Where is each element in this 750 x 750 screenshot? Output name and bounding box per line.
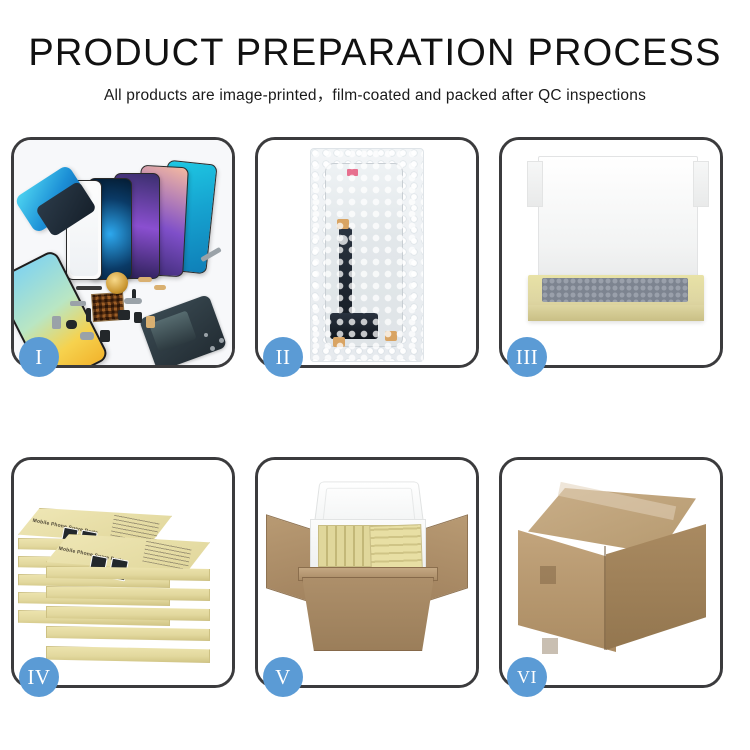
yellow-inner-box	[528, 275, 704, 321]
flex-part	[70, 301, 86, 306]
step-badge: I	[19, 337, 59, 377]
label-sticker	[347, 169, 358, 176]
flex-part	[80, 332, 94, 340]
kraft-carton	[302, 577, 434, 651]
box-stack: Mobile Phone Spare Parts Mobile Phone Sp…	[18, 482, 232, 678]
step-3-image	[502, 140, 720, 365]
connector-part	[385, 331, 397, 341]
carton-left-face	[518, 530, 616, 652]
flex-part	[146, 316, 155, 328]
flex-part	[86, 308, 91, 322]
flex-part	[76, 286, 102, 290]
sealed-carton	[518, 488, 706, 656]
process-step-grid: I II III	[11, 137, 739, 688]
step-badge: IV	[19, 657, 59, 697]
bubble-wrapped-contents	[542, 278, 688, 302]
page-subtitle: All products are image-printed，film-coat…	[0, 83, 750, 105]
step-badge: II	[263, 337, 303, 377]
camera-module	[338, 235, 348, 245]
step-2-image	[258, 140, 476, 365]
connector-part	[333, 337, 345, 347]
process-step-6[interactable]: VI	[499, 457, 723, 688]
retail-box	[46, 646, 210, 663]
connector-part	[337, 219, 349, 229]
process-step-3[interactable]: III	[499, 137, 723, 368]
coil-part	[106, 272, 128, 294]
flex-part	[124, 298, 142, 304]
flex-part	[52, 316, 61, 329]
carton-tab	[540, 566, 556, 584]
process-step-1[interactable]: I	[11, 137, 235, 368]
process-step-4[interactable]: Mobile Phone Spare Parts Mobile Phone Sp…	[11, 457, 235, 688]
screw-part	[204, 333, 208, 337]
flex-part	[134, 312, 142, 323]
bubble-wrap-bag	[310, 148, 424, 362]
step-badge: V	[263, 657, 303, 697]
retail-box	[46, 626, 210, 641]
page-header: PRODUCT PREPARATION PROCESS All products…	[0, 0, 750, 105]
flex-part	[118, 310, 130, 320]
box-front-face	[528, 305, 704, 321]
step-badge: VI	[507, 657, 547, 697]
flex-part	[100, 330, 110, 342]
carton-tab	[542, 638, 558, 654]
packed-boxes	[369, 524, 423, 570]
carton-seam	[604, 546, 606, 650]
page-title: PRODUCT PREPARATION PROCESS	[0, 34, 750, 74]
box-lid	[538, 156, 698, 286]
step-5-image	[258, 460, 476, 685]
screw-part	[219, 338, 224, 343]
flex-part	[138, 277, 152, 282]
screw-part	[210, 346, 215, 351]
process-step-5[interactable]: V	[255, 457, 479, 688]
flex-part	[66, 320, 77, 329]
step-1-image	[14, 140, 232, 365]
step-4-image: Mobile Phone Spare Parts Mobile Phone Sp…	[14, 460, 232, 685]
step-badge: III	[507, 337, 547, 377]
process-step-2[interactable]: II	[255, 137, 479, 368]
flex-part	[154, 285, 166, 290]
step-6-image	[502, 460, 720, 685]
